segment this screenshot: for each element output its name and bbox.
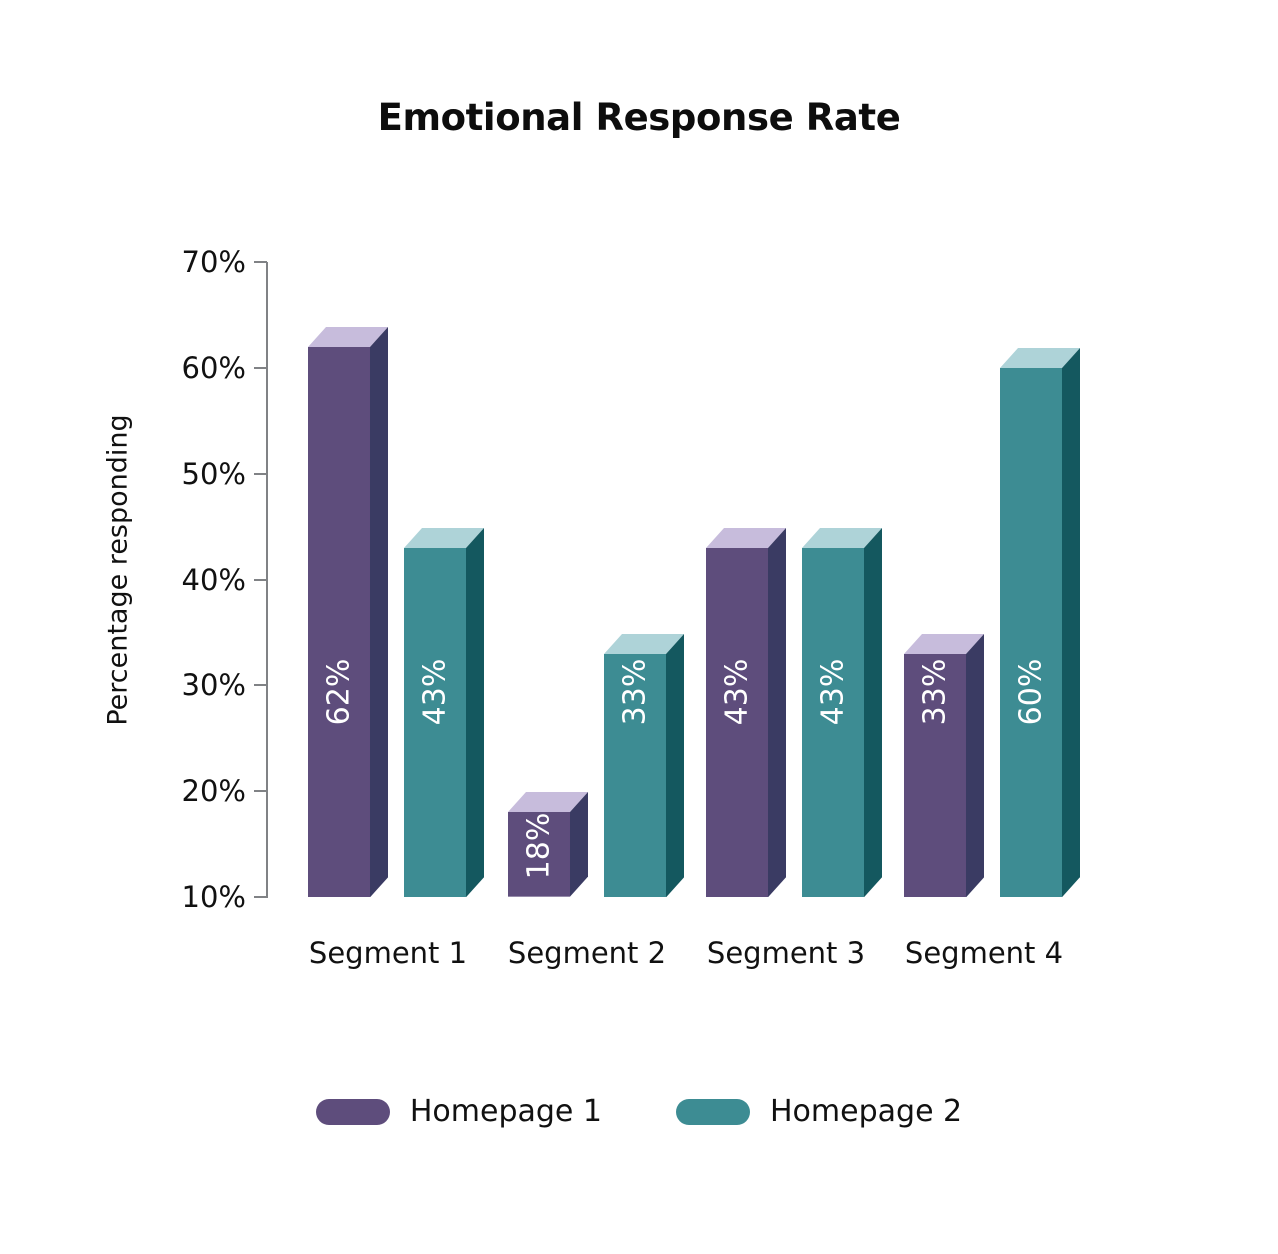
bar-front-face [508,812,570,897]
bar-shape [802,528,882,897]
bar-shape [904,634,984,897]
bar-front-face [404,548,466,897]
legend-swatch-1 [316,1099,390,1125]
bar-shape [308,327,388,897]
bar-side-face [864,528,882,897]
bar-front-face [802,548,864,897]
x-axis-category-label-3: Segment 3 [707,936,865,970]
bar-front-face [706,548,768,897]
bar-homepage-1-segment-2: 18% [508,792,588,897]
bar-side-face [966,634,984,897]
bar-side-face [466,528,484,897]
x-axis-category-label-2: Segment 2 [508,936,666,970]
bar-homepage-2-segment-4: 60% [1000,348,1080,897]
bar-side-face [370,327,388,897]
bar-shape [706,528,786,897]
bar-front-face [604,654,666,897]
legend-item-2[interactable]: Homepage 2 [676,1094,962,1129]
legend-label-2: Homepage 2 [770,1094,962,1129]
x-axis-category-label-4: Segment 4 [905,936,1063,970]
chart-container: Emotional Response Rate Percentage respo… [0,0,1278,1254]
legend-label-1: Homepage 1 [410,1094,602,1129]
legend-item-1[interactable]: Homepage 1 [316,1094,602,1129]
bar-shape [604,634,684,897]
bar-shape [404,528,484,897]
bar-homepage-1-segment-1: 62% [308,327,388,897]
chart-legend: Homepage 1Homepage 2 [0,1094,1278,1129]
bar-side-face [1062,348,1080,897]
bar-side-face [666,634,684,897]
bar-side-face [768,528,786,897]
plot-area: 62%18%43%33%43%33%43%60% [0,0,1278,1254]
bar-homepage-2-segment-3: 43% [802,528,882,897]
bar-homepage-2-segment-1: 43% [404,528,484,897]
bar-shape [1000,348,1080,897]
bar-homepage-1-segment-4: 33% [904,634,984,897]
bar-homepage-2-segment-2: 33% [604,634,684,897]
legend-swatch-2 [676,1099,750,1125]
bar-homepage-1-segment-3: 43% [706,528,786,897]
bar-shape [508,792,588,897]
x-axis-category-label-1: Segment 1 [309,936,467,970]
bar-front-face [308,347,370,897]
bar-front-face [1000,368,1062,897]
bar-front-face [904,654,966,897]
